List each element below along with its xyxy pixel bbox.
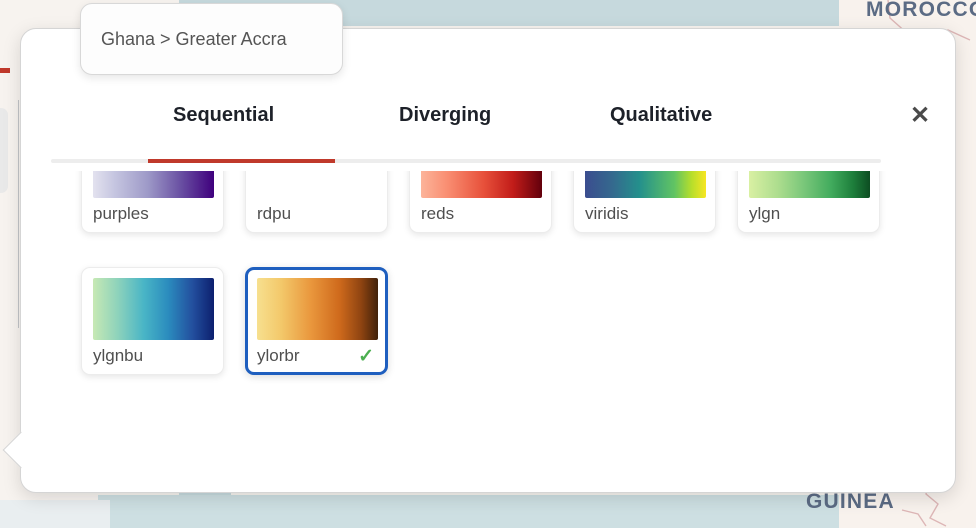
palette-card-purples[interactable]: purples <box>81 171 224 233</box>
palette-gradient-ylgn <box>749 171 870 198</box>
palette-card-footer: ylorbr✓ <box>257 340 376 372</box>
tab-active-indicator <box>148 159 335 163</box>
palette-name-label: rdpu <box>257 204 291 224</box>
tab-underline-track <box>51 159 881 163</box>
tab-diverging[interactable]: Diverging <box>399 104 491 127</box>
palette-card-footer: reds <box>421 198 540 230</box>
tab-qualitative[interactable]: Qualitative <box>610 104 712 127</box>
palette-card-viridis[interactable]: viridis <box>573 171 716 233</box>
breadcrumb-label: Ghana > Greater Accra <box>81 29 287 50</box>
map-label-guinea: GUINEA <box>806 490 895 514</box>
color-palette-dialog: Sequential Diverging Qualitative ✕ purpl… <box>20 28 956 493</box>
map-water-bottom-left <box>0 500 110 528</box>
palette-card-footer: viridis <box>585 198 704 230</box>
palette-grid-viewport[interactable]: purplesrdpuredsviridisylgnylgnbuylorbr✓ <box>21 171 957 493</box>
palette-card-ylgn[interactable]: ylgn <box>737 171 880 233</box>
palette-name-label: viridis <box>585 204 628 224</box>
palette-name-label: reds <box>421 204 454 224</box>
close-icon[interactable]: ✕ <box>905 101 935 131</box>
palette-card-footer: ylgn <box>749 198 868 230</box>
breadcrumb[interactable]: Ghana > Greater Accra <box>80 3 343 75</box>
palette-gradient-rdpu <box>257 171 378 198</box>
check-icon: ✓ <box>358 347 374 366</box>
palette-card-footer: rdpu <box>257 198 376 230</box>
palette-name-label: ylorbr <box>257 346 300 366</box>
palette-card-footer: ylgnbu <box>93 340 212 372</box>
palette-name-label: purples <box>93 204 149 224</box>
palette-grid: purplesrdpuredsviridisylgnylgnbuylorbr✓ <box>21 171 957 375</box>
palette-name-label: ylgnbu <box>93 346 143 366</box>
app-root: MOROCCO GUINEA Sequential Diverging Qual… <box>0 0 976 528</box>
map-label-morocco: MOROCCO <box>866 0 976 22</box>
palette-card-ylgnbu[interactable]: ylgnbu <box>81 267 224 375</box>
palette-card-reds[interactable]: reds <box>409 171 552 233</box>
palette-gradient-ylorbr <box>257 278 378 340</box>
tab-sequential[interactable]: Sequential <box>173 104 274 127</box>
palette-card-rdpu[interactable]: rdpu <box>245 171 388 233</box>
left-accent-bar <box>0 68 10 73</box>
palette-gradient-purples <box>93 171 214 198</box>
palette-card-footer: purples <box>93 198 212 230</box>
background-panel-divider <box>18 100 19 328</box>
palette-gradient-viridis <box>585 171 706 198</box>
palette-gradient-reds <box>421 171 542 198</box>
palette-tabs: Sequential Diverging Qualitative <box>21 91 957 146</box>
background-side-panel <box>0 108 8 193</box>
palette-card-ylorbr[interactable]: ylorbr✓ <box>245 267 388 375</box>
palette-name-label: ylgn <box>749 204 780 224</box>
palette-gradient-ylgnbu <box>93 278 214 340</box>
